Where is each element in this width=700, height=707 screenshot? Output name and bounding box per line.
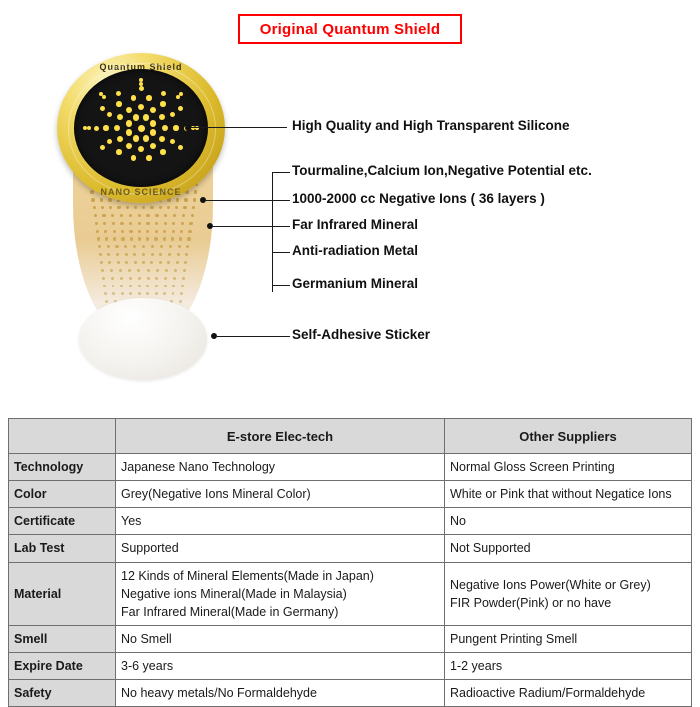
table-cell-estore: Supported	[116, 535, 445, 562]
layer-dot	[103, 222, 106, 225]
layer-dot	[124, 245, 127, 248]
layer-dot	[125, 261, 128, 264]
starburst-dot	[161, 91, 166, 96]
product-adhesive-base	[79, 298, 207, 380]
starburst-dot	[179, 92, 183, 96]
starburst-dot	[103, 125, 109, 131]
disc-brand-bottom: NANO SCIENCE	[57, 187, 225, 197]
table-header-estore: E-store Elec-tech	[116, 419, 445, 454]
layer-dot	[180, 230, 183, 233]
table-cell-other: Negative Ions Power(White or Grey)FIR Po…	[445, 562, 692, 625]
layer-dot	[129, 214, 132, 217]
layer-dot	[129, 277, 132, 280]
layer-dot	[101, 269, 104, 272]
callout-line-anti-radiation	[272, 252, 290, 253]
starburst-dot	[83, 126, 87, 130]
layer-dot	[99, 253, 102, 256]
layer-dot	[107, 245, 110, 248]
starburst-dot	[178, 145, 183, 150]
layer-dot	[102, 277, 105, 280]
layer-dot	[150, 261, 153, 264]
table-row: Material12 Kinds of Mineral Elements(Mad…	[9, 562, 692, 625]
callout-label-tourmaline: Tourmaline,Calcium Ion,Negative Potentia…	[292, 163, 592, 178]
layer-dot	[163, 237, 166, 240]
layer-dot	[129, 292, 132, 295]
table-cell-other: 1-2 years	[445, 653, 692, 680]
starburst-dot	[138, 125, 145, 132]
layer-dot	[185, 253, 188, 256]
starburst-dot	[143, 114, 150, 121]
table-row-label: Color	[9, 481, 116, 508]
layer-dot	[102, 214, 105, 217]
layer-dot	[142, 253, 145, 256]
starburst-dot	[170, 112, 176, 118]
layer-dot	[138, 214, 141, 217]
layer-dot	[167, 261, 170, 264]
table-row-label: Smell	[9, 625, 116, 652]
table-cell-estore: Grey(Negative Ions Mineral Color)	[116, 481, 445, 508]
layer-dot	[101, 206, 104, 209]
starburst-dot	[117, 136, 123, 142]
layer-dot	[167, 206, 170, 209]
callout-label-germanium: Germanium Mineral	[292, 276, 418, 291]
layer-dot	[172, 222, 175, 225]
starburst-dot	[138, 104, 144, 110]
table-row-label: Material	[9, 562, 116, 625]
starburst-dot	[100, 145, 105, 150]
table-cell-line: Normal Gloss Screen Printing	[450, 458, 686, 476]
layer-dot	[181, 222, 184, 225]
starburst-dot	[162, 125, 168, 131]
layer-dot	[113, 230, 116, 233]
table-cell-estore: Yes	[116, 508, 445, 535]
layer-dot	[159, 261, 162, 264]
layer-dot	[187, 237, 190, 240]
starburst-dot	[146, 95, 152, 101]
callout-line-far-infrared	[213, 226, 290, 227]
starburst-dot	[143, 135, 150, 142]
layer-dot	[155, 292, 158, 295]
table-cell-other: Radioactive Radium/Formaldehyde	[445, 680, 692, 707]
starburst-dot	[150, 129, 157, 136]
layer-dot	[138, 285, 141, 288]
layer-dot	[134, 261, 137, 264]
table-row-label: Expire Date	[9, 653, 116, 680]
layer-dot	[108, 198, 112, 202]
layer-dot	[172, 292, 175, 295]
layer-dot	[156, 269, 159, 272]
layer-dot	[155, 285, 158, 288]
callout-label-negative-ions: 1000-2000 cc Negative Ions ( 36 layers )	[292, 191, 545, 206]
callout-line-negative-ions	[206, 200, 290, 201]
layer-dot	[189, 222, 192, 225]
layer-dot	[129, 285, 132, 288]
starburst-dot	[139, 86, 144, 91]
layer-dot	[182, 277, 185, 280]
layer-dot	[163, 230, 166, 233]
starburst-dot	[160, 101, 166, 107]
layer-dot	[142, 245, 145, 248]
layer-dot	[129, 222, 132, 225]
table-row: SafetyNo heavy metals/No FormaldehydeRad…	[9, 680, 692, 707]
table-header-row: E-store Elec-tech Other Suppliers	[9, 419, 692, 454]
layer-dot	[130, 237, 133, 240]
table-cell-line: No	[450, 512, 686, 530]
layer-dot	[151, 253, 154, 256]
callout-line-sticker	[217, 336, 290, 337]
layer-dot	[160, 245, 163, 248]
layer-dot	[146, 237, 149, 240]
layer-dot	[138, 277, 141, 280]
layer-dot	[91, 198, 95, 202]
layer-dot	[120, 277, 123, 280]
table-cell-line: White or Pink that without Negatice Ions	[450, 485, 686, 503]
layer-dot	[168, 253, 171, 256]
layer-dot	[133, 245, 136, 248]
layer-dot	[108, 261, 111, 264]
starburst-dot	[116, 149, 122, 155]
layer-dot	[181, 285, 184, 288]
layer-dot	[164, 277, 167, 280]
layer-dot	[129, 230, 132, 233]
layer-dot	[121, 237, 124, 240]
table-cell-other: Not Supported	[445, 535, 692, 562]
table-cell-line: Supported	[121, 539, 439, 557]
starburst-dot	[87, 126, 91, 130]
layer-dot	[112, 285, 115, 288]
layer-dot	[111, 277, 114, 280]
layer-dot	[112, 292, 115, 295]
layer-dot	[105, 237, 108, 240]
table-cell-line: Not Supported	[450, 539, 686, 557]
layer-dot	[184, 198, 188, 202]
layer-dot	[183, 269, 186, 272]
layer-dot	[133, 253, 136, 256]
callout-label-silicone: High Quality and High Transparent Silico…	[292, 118, 570, 133]
layer-dot	[128, 269, 131, 272]
layer-dot	[111, 214, 114, 217]
layer-dot	[113, 237, 116, 240]
table-header-other: Other Suppliers	[445, 419, 692, 454]
layer-dot	[163, 292, 166, 295]
table-cell-line: Japanese Nano Technology	[121, 458, 439, 476]
layer-dot	[142, 261, 145, 264]
table-cell-line: 3-6 years	[121, 657, 439, 675]
table-cell-estore: 12 Kinds of Mineral Elements(Made in Jap…	[116, 562, 445, 625]
page-title: Original Quantum Shield	[260, 21, 440, 38]
starburst-dot	[160, 149, 166, 155]
layer-dot	[191, 214, 194, 217]
layer-dot	[137, 269, 140, 272]
layer-dot	[183, 206, 186, 209]
layer-dot	[179, 300, 182, 303]
layer-dot	[117, 206, 120, 209]
layer-dot	[100, 261, 103, 264]
table-row: Expire Date3-6 years1-2 years	[9, 653, 692, 680]
table-cell-estore: Japanese Nano Technology	[116, 454, 445, 481]
starburst-dot	[170, 139, 176, 145]
layer-dot	[155, 277, 158, 280]
layer-dot	[146, 214, 149, 217]
table-cell-line: Pungent Printing Smell	[450, 630, 686, 648]
layer-dot	[142, 206, 145, 209]
callout-line-silicone	[191, 127, 287, 128]
layer-dot	[186, 245, 189, 248]
layer-dot	[125, 253, 128, 256]
starburst-dot	[173, 125, 179, 131]
layer-dot	[146, 222, 149, 225]
starburst-dot	[146, 155, 152, 161]
starburst-dot	[150, 120, 157, 127]
layer-dot	[94, 214, 97, 217]
callout-label-anti-radiation: Anti-radiation Metal	[292, 243, 418, 258]
layer-dot	[151, 245, 154, 248]
table-row: ColorGrey(Negative Ions Mineral Color)Wh…	[9, 481, 692, 508]
layer-dot	[155, 214, 158, 217]
layer-dot	[121, 230, 124, 233]
table-row-label: Certificate	[9, 508, 116, 535]
product-illustration: Quantum Shield NANO SCIENCE High Quality…	[0, 45, 700, 395]
table-cell-other: No	[445, 508, 692, 535]
table-cell-line: Far Infrared Mineral(Made in Germany)	[121, 603, 439, 621]
table-body: TechnologyJapanese Nano TechnologyNormal…	[9, 454, 692, 707]
layer-dot	[147, 269, 150, 272]
layer-dot	[164, 285, 167, 288]
table-row: Lab TestSupportedNot Supported	[9, 535, 692, 562]
layer-dot	[173, 277, 176, 280]
starburst-dot	[131, 95, 137, 101]
starburst-dot	[102, 95, 106, 99]
table-row-label: Lab Test	[9, 535, 116, 562]
callout-line-germanium	[272, 285, 290, 286]
layer-dot	[172, 285, 175, 288]
layer-dot	[126, 206, 129, 209]
table-cell-other: Normal Gloss Screen Printing	[445, 454, 692, 481]
layer-dot	[146, 285, 149, 288]
table-row: TechnologyJapanese Nano TechnologyNormal…	[9, 454, 692, 481]
callout-label-far-infrared: Far Infrared Mineral	[292, 217, 418, 232]
layer-dot	[174, 269, 177, 272]
layer-dot	[150, 206, 153, 209]
table-cell-line: Yes	[121, 512, 439, 530]
layer-dot	[175, 206, 178, 209]
layer-dot	[138, 222, 141, 225]
starburst-dot	[150, 107, 156, 113]
starburst-dot	[159, 136, 165, 142]
starburst-dot	[107, 112, 113, 118]
layer-dot	[120, 285, 123, 288]
layer-dot	[96, 230, 99, 233]
layer-dot	[93, 206, 96, 209]
starburst-dot	[131, 155, 137, 161]
layer-dot	[112, 222, 115, 225]
layer-dot	[172, 230, 175, 233]
layer-dot	[104, 292, 107, 295]
layer-dot	[138, 230, 141, 233]
starburst-dot	[150, 143, 156, 149]
layer-dot	[165, 269, 168, 272]
layer-dot	[155, 222, 158, 225]
starburst-dot	[116, 101, 122, 107]
table-cell-estore: No heavy metals/No Formaldehyde	[116, 680, 445, 707]
starburst-dot	[178, 106, 183, 111]
comparison-table: E-store Elec-tech Other Suppliers Techno…	[8, 418, 692, 707]
layer-dot	[159, 206, 162, 209]
layer-dot	[116, 253, 119, 256]
starburst-dot	[116, 91, 121, 96]
table-cell-line: 12 Kinds of Mineral Elements(Made in Jap…	[121, 567, 439, 585]
layer-dot	[120, 222, 123, 225]
starburst-dot	[133, 114, 140, 121]
callout-label-sticker: Self-Adhesive Sticker	[292, 327, 430, 342]
layer-dot	[188, 230, 191, 233]
starburst-dot	[117, 114, 123, 120]
layer-dot	[176, 261, 179, 264]
table-cell-line: No Smell	[121, 630, 439, 648]
starburst-dot	[159, 114, 165, 120]
starburst-dot	[126, 143, 132, 149]
layer-dot	[146, 292, 149, 295]
layer-dot	[147, 277, 150, 280]
starburst-dot	[114, 125, 120, 131]
table-cell-line: Grey(Negative Ions Mineral Color)	[121, 485, 439, 503]
layer-dot	[97, 237, 100, 240]
layer-dot	[164, 222, 167, 225]
layer-dot	[184, 261, 187, 264]
callout-line-tourmaline	[272, 172, 290, 173]
layer-dot	[120, 214, 123, 217]
table-cell-estore: 3-6 years	[116, 653, 445, 680]
table-cell-line: Negative ions Mineral(Made in Malaysia)	[121, 585, 439, 603]
layer-dot	[182, 214, 185, 217]
layer-dot	[115, 245, 118, 248]
layer-dot	[138, 292, 141, 295]
layer-dot	[110, 269, 113, 272]
layer-dot	[98, 245, 101, 248]
layer-dot	[105, 300, 108, 303]
layer-dot	[179, 237, 182, 240]
starburst-dot	[107, 139, 113, 145]
layer-dot	[193, 198, 197, 202]
starburst-dot	[100, 106, 105, 111]
layer-dot	[159, 253, 162, 256]
layer-dot	[95, 222, 98, 225]
starburst-dot	[139, 82, 143, 86]
layer-dot	[138, 237, 141, 240]
table-cell-line: FIR Powder(Pink) or no have	[450, 594, 686, 612]
layer-dot	[154, 237, 157, 240]
layer-dot	[180, 292, 183, 295]
layer-dot	[134, 206, 137, 209]
starburst-dot	[126, 107, 132, 113]
table-row-label: Technology	[9, 454, 116, 481]
layer-dot	[103, 285, 106, 288]
layer-dot	[100, 198, 104, 202]
layer-dot	[192, 206, 195, 209]
layer-dot	[107, 253, 110, 256]
starburst-dot	[126, 129, 133, 136]
layer-dot	[121, 292, 124, 295]
layer-dot	[146, 230, 149, 233]
layer-dot	[164, 214, 167, 217]
starburst-dot	[133, 135, 140, 142]
layer-dot	[169, 245, 172, 248]
table-cell-line: Negative Ions Power(White or Grey)	[450, 576, 686, 594]
layer-dot	[117, 261, 120, 264]
layer-dot	[177, 253, 180, 256]
table-cell-estore: No Smell	[116, 625, 445, 652]
layer-dot	[173, 214, 176, 217]
table-row-label: Safety	[9, 680, 116, 707]
table-row: CertificateYesNo	[9, 508, 692, 535]
layer-dot	[176, 198, 180, 202]
layer-dot	[155, 230, 158, 233]
starburst-dot	[138, 146, 144, 152]
page-title-box: Original Quantum Shield	[238, 14, 462, 44]
table-cell-line: 1-2 years	[450, 657, 686, 675]
starburst-dot	[94, 126, 99, 131]
layer-dot	[109, 206, 112, 209]
table-cell-other: White or Pink that without Negatice Ions	[445, 481, 692, 508]
table-header-blank	[9, 419, 116, 454]
layer-dot	[104, 230, 107, 233]
layer-dot	[171, 237, 174, 240]
table-cell-other: Pungent Printing Smell	[445, 625, 692, 652]
callout-spine	[272, 172, 273, 292]
table-row: SmellNo SmellPungent Printing Smell	[9, 625, 692, 652]
starburst-dot	[126, 120, 133, 127]
layer-dot	[178, 245, 181, 248]
layer-dot	[119, 269, 122, 272]
